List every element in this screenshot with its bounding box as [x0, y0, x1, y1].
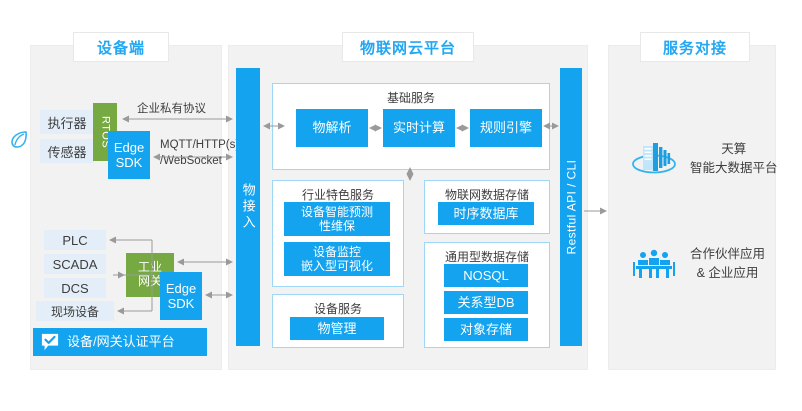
service-item-bigdata-line2: 智能大数据平台	[690, 159, 778, 178]
device-field: 现场设备	[36, 301, 114, 321]
device-sensor: 传感器	[40, 139, 94, 163]
tile-device-monitoring-line1: 设备监控	[313, 245, 361, 259]
edge-sdk-gateway-line2: SDK	[168, 296, 195, 311]
tile-timeseries-db: 时序数据库	[438, 202, 534, 225]
box-iot-data-storage-title: 物联网数据存储	[425, 186, 549, 203]
edge-sdk-device-line1: Edge	[114, 140, 144, 155]
service-item-partner-line2: & 企业应用	[690, 264, 765, 283]
tile-object-storage: 对象存储	[444, 318, 528, 341]
label-websocket: /WebSocket	[160, 155, 222, 167]
tile-thing-management: 物管理	[290, 317, 384, 340]
box-device-services-title: 设备服务	[273, 300, 403, 317]
tile-device-monitoring-line2: 嵌入型可视化	[301, 259, 373, 273]
api-bar-restful-cli: Restful API / CLI	[560, 68, 582, 346]
tile-realtime-compute: 实时计算	[383, 109, 455, 147]
edge-sdk-device: Edge SDK	[108, 131, 150, 179]
auth-platform-bar: 设备/网关认证平台	[33, 328, 207, 356]
service-item-partner-text: 合作伙伴应用 & 企业应用	[690, 245, 765, 283]
section-title-device: 设备端	[73, 32, 169, 62]
edge-sdk-gateway: Edge SDK	[160, 272, 202, 320]
section-title-cloud: 物联网云平台	[342, 32, 474, 62]
check-bubble-icon	[41, 333, 59, 351]
tile-device-monitoring: 设备监控 嵌入型可视化	[284, 242, 390, 276]
section-title-service: 服务对接	[640, 32, 750, 62]
industrial-gateway-line1: 工业	[138, 261, 162, 275]
tile-predictive-maintenance-line2: 性维保	[319, 219, 355, 233]
box-industry-services-title: 行业特色服务	[273, 186, 403, 203]
auth-platform-label: 设备/网关认证平台	[67, 334, 175, 349]
tile-relational-db: 关系型DB	[444, 291, 528, 314]
diagram-canvas: 设备端 物联网云平台 服务对接	[0, 0, 802, 411]
device-plc: PLC	[44, 230, 106, 250]
tile-predictive-maintenance-line1: 设备智能预测	[301, 205, 373, 219]
device-dcs: DCS	[44, 278, 106, 298]
device-actuator: 执行器	[40, 110, 94, 134]
label-private-protocol: 企业私有协议	[137, 100, 206, 116]
service-item-bigdata-text: 天算 智能大数据平台	[690, 140, 778, 178]
tile-thing-parsing: 物解析	[296, 109, 368, 147]
box-general-storage-title: 通用型数据存储	[425, 248, 549, 265]
service-item-bigdata: 天算 智能大数据平台	[630, 138, 778, 180]
cloud-server-icon	[630, 138, 678, 180]
edge-sdk-device-line2: SDK	[116, 155, 143, 170]
service-item-bigdata-line1: 天算	[690, 140, 778, 159]
partner-meeting-icon	[630, 243, 678, 285]
box-basic-services-title: 基础服务	[273, 89, 549, 106]
service-item-partner: 合作伙伴应用 & 企业应用	[630, 243, 765, 285]
tile-rule-engine: 规则引擎	[470, 109, 542, 147]
access-bar-thing-access: 物接入	[236, 68, 260, 346]
panel-device-side	[30, 45, 222, 370]
api-bar-label: Restful API / CLI	[564, 160, 578, 255]
leaf-icon	[8, 128, 30, 150]
tile-predictive-maintenance: 设备智能预测 性维保	[284, 202, 390, 236]
panel-service-layer	[608, 45, 776, 370]
tile-nosql: NOSQL	[444, 264, 528, 287]
edge-sdk-gateway-line1: Edge	[166, 281, 196, 296]
label-mqtt-http: MQTT/HTTP(s)	[160, 139, 239, 151]
industrial-gateway-line2: 网关	[138, 275, 162, 289]
device-scada: SCADA	[44, 254, 106, 274]
service-item-partner-line1: 合作伙伴应用	[690, 245, 765, 264]
